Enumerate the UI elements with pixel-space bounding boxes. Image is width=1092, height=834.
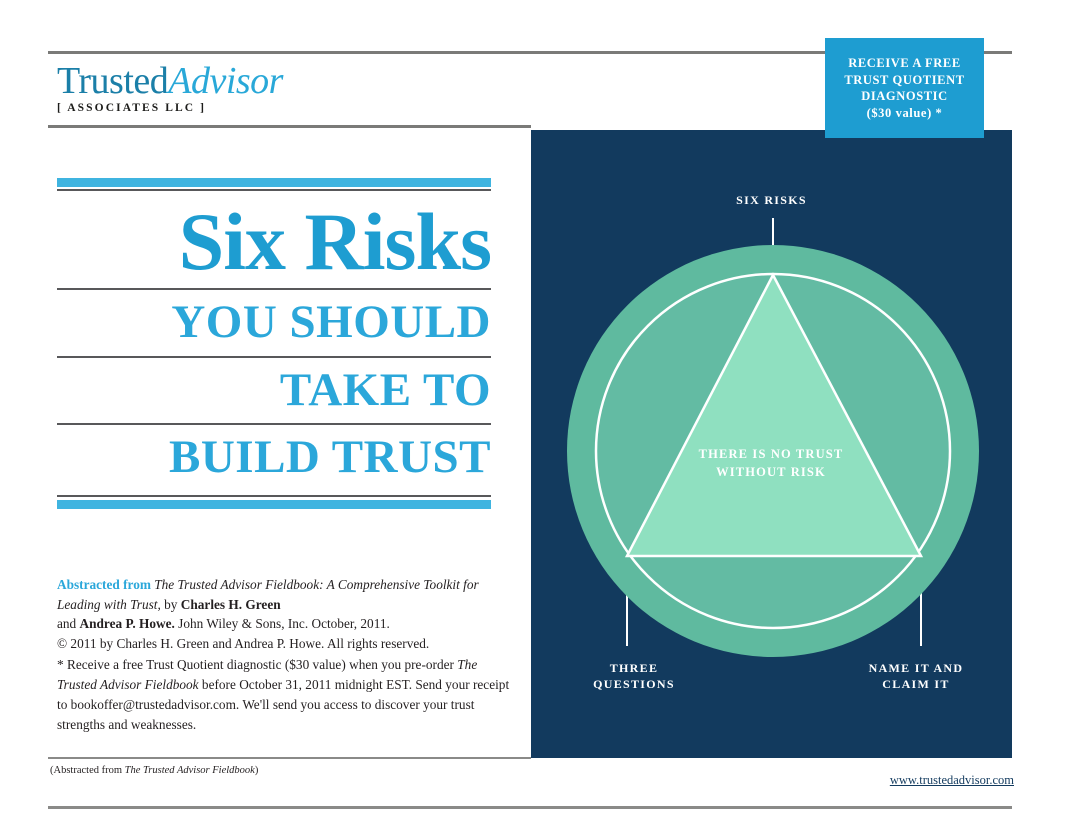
- poster-page: TrustedAdvisor [ ASSOCIATES LLC ] RECEIV…: [0, 0, 1092, 834]
- footer-attribution-prefix: (Abstracted from: [50, 765, 122, 776]
- offer-badge-line-4: ($30 value) *: [867, 105, 943, 122]
- offer-note-part-1: * Receive a free Trust Quotient diagnost…: [57, 657, 454, 672]
- diagram-label-three-questions-line-1: THREE: [559, 660, 709, 676]
- headline-line-4: BUILD TRUST: [57, 430, 491, 485]
- diagram-label-name-it-claim-it-line-1: NAME IT AND: [836, 660, 996, 676]
- headline-bottom-accent-group: [57, 495, 491, 509]
- headline-rule-3: [57, 423, 491, 425]
- credit-copyright: © 2011 by Charles H. Green and Andrea P.…: [57, 636, 429, 651]
- footer-attribution-suffix: ): [255, 765, 259, 776]
- diagram-center-label: THERE IS NO TRUST WITHOUT RISK: [671, 445, 871, 481]
- logo-subtitle: [ ASSOCIATES LLC ]: [57, 103, 283, 115]
- diagram-center-label-line-1: THERE IS NO TRUST: [671, 445, 871, 463]
- logo-secondary-text: Advisor: [168, 60, 283, 102]
- logo-wordmark: TrustedAdvisor: [57, 62, 283, 100]
- diagram-label-three-questions-line-2: QUESTIONS: [559, 676, 709, 692]
- logo-primary-text: Trusted: [57, 60, 168, 102]
- footer-bottom-rule: [48, 806, 1012, 809]
- footer-top-rule: [48, 757, 531, 759]
- headline-top-thin-rule: [57, 189, 491, 191]
- book-credit-paragraph: Abstracted from The Trusted Advisor Fiel…: [57, 575, 517, 653]
- footer-attribution: (Abstracted from The Trusted Advisor Fie…: [50, 765, 258, 776]
- diagram-label-name-it-claim-it: NAME IT AND CLAIM IT: [836, 660, 996, 692]
- credit-author-one: Charles H. Green: [181, 597, 281, 612]
- headline-bottom-accent-bar: [57, 500, 491, 509]
- credit-publisher: John Wiley & Sons, Inc. October, 2011.: [178, 616, 390, 631]
- headline-rule-1: [57, 288, 491, 290]
- headline-bottom-thin-rule: [57, 495, 491, 497]
- offer-badge-line-3: DIAGNOSTIC: [861, 88, 948, 105]
- headline-block: Six Risks YOU SHOULD TAKE TO BUILD TRUST: [57, 178, 491, 509]
- credit-author-two: Andrea P. Howe.: [80, 616, 175, 631]
- headline-rule-2: [57, 356, 491, 358]
- footer-attribution-title: The Trusted Advisor Fieldbook: [125, 765, 255, 776]
- logo-divider-rule: [48, 125, 531, 128]
- headline-line-3: TAKE TO: [57, 363, 491, 418]
- offer-badge-line-2: TRUST QUOTIENT: [844, 72, 964, 89]
- headline-line-1: Six Risks: [57, 199, 491, 284]
- trust-triangle-diagram: SIX RISKS THREE QUESTIONS NAME IT AND CL…: [531, 130, 1012, 758]
- credit-lead-in: Abstracted from: [57, 577, 151, 592]
- headline-top-accent-bar: [57, 178, 491, 187]
- credit-and-word: and: [57, 616, 76, 631]
- headline-line-2: YOU SHOULD: [57, 295, 491, 350]
- offer-note-paragraph: * Receive a free Trust Quotient diagnost…: [57, 655, 519, 735]
- offer-badge[interactable]: RECEIVE A FREE TRUST QUOTIENT DIAGNOSTIC…: [825, 38, 984, 138]
- website-url-link[interactable]: www.trustedadvisor.com: [890, 773, 1014, 788]
- offer-badge-line-1: RECEIVE A FREE: [848, 55, 961, 72]
- diagram-center-label-line-2: WITHOUT RISK: [671, 463, 871, 481]
- diagram-label-six-risks: SIX RISKS: [531, 192, 1012, 208]
- diagram-label-three-questions: THREE QUESTIONS: [559, 660, 709, 692]
- credit-by-word: by: [164, 597, 177, 612]
- diagram-label-name-it-claim-it-line-2: CLAIM IT: [836, 676, 996, 692]
- brand-logo: TrustedAdvisor [ ASSOCIATES LLC ]: [57, 62, 283, 115]
